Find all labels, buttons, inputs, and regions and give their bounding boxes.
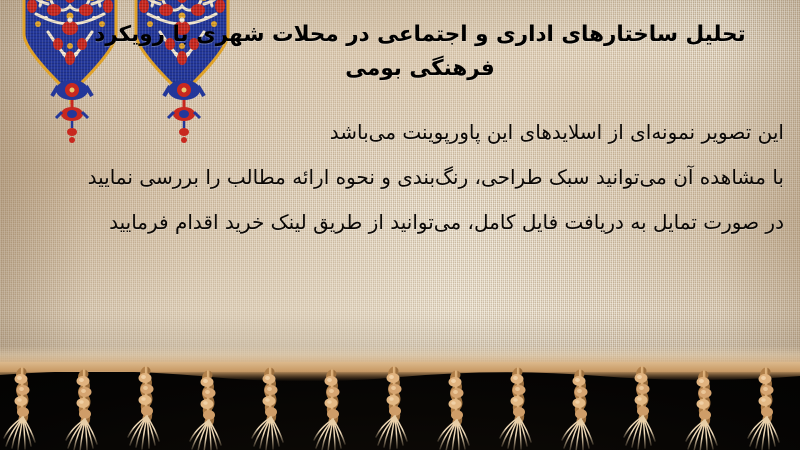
slide-title: تحلیل ساختارهای اداری و اجتماعی در محلات… bbox=[60, 18, 780, 86]
slide-body: این تصویر نمونه‌ای از اسلایدهای این پاور… bbox=[14, 110, 784, 245]
slide-title-line-2: فرهنگی بومی bbox=[60, 52, 780, 86]
carpet-selvedge bbox=[0, 346, 800, 372]
slide-body-line-2: با مشاهده آن می‌توانید سبک طراحی، رنگ‌بن… bbox=[14, 155, 784, 200]
slide-title-line-1: تحلیل ساختارهای اداری و اجتماعی در محلات… bbox=[94, 22, 746, 47]
slide-body-line-3: در صورت تمایل به دریافت فایل کامل، می‌تو… bbox=[14, 200, 784, 245]
slide-body-line-1: این تصویر نمونه‌ای از اسلایدهای این پاور… bbox=[14, 110, 784, 155]
presentation-slide: تحلیل ساختارهای اداری و اجتماعی در محلات… bbox=[0, 0, 800, 450]
carpet-field: تحلیل ساختارهای اداری و اجتماعی در محلات… bbox=[0, 0, 800, 372]
